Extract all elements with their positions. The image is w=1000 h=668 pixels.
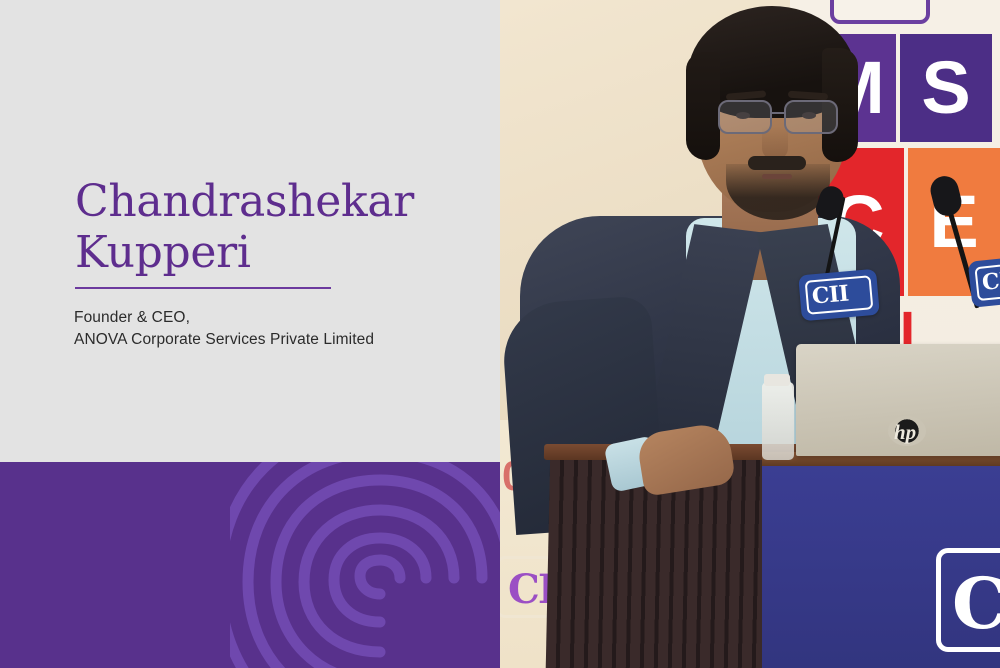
water-bottle-cap <box>764 374 790 386</box>
glasses-bridge <box>772 112 784 114</box>
fingerprint-pattern-icon <box>230 462 500 668</box>
speaker-role-title: Founder & CEO, <box>74 307 494 329</box>
podium-cii-logo-text: CII <box>952 562 1000 645</box>
microphone-flag-left-text: CII <box>811 280 850 309</box>
speaker-moustache <box>748 156 806 170</box>
brand-footer-band: The Business Dec de <box>0 462 500 668</box>
speaker-role-block: Founder & CEO, ANOVA Corporate Services … <box>74 307 494 351</box>
glasses-lens-left <box>718 100 772 134</box>
backdrop-top-frame <box>830 0 930 24</box>
backdrop-tile-s: S <box>900 34 992 142</box>
speaker-name: Chandrashekar Kupperi <box>75 176 475 278</box>
laptop-brand-text: hp <box>894 420 916 445</box>
backdrop-tile-s-letter: S <box>900 34 992 142</box>
speaker-company: ANOVA Corporate Services Private Limited <box>74 329 494 351</box>
microphone-flag-right-text: CII <box>981 266 1000 296</box>
speaker-name-block: Chandrashekar Kupperi <box>75 176 475 278</box>
slide-canvas: Chandrashekar Kupperi Founder & CEO, ANO… <box>0 0 1000 668</box>
glasses-lens-right <box>784 100 838 134</box>
water-bottle <box>762 382 794 460</box>
speaker-mouth <box>762 174 792 179</box>
divider-rule <box>75 287 331 289</box>
speaker-hair-side-left <box>686 52 720 160</box>
speaker-photo: M S C E MMI 01 CII <box>500 0 1000 668</box>
